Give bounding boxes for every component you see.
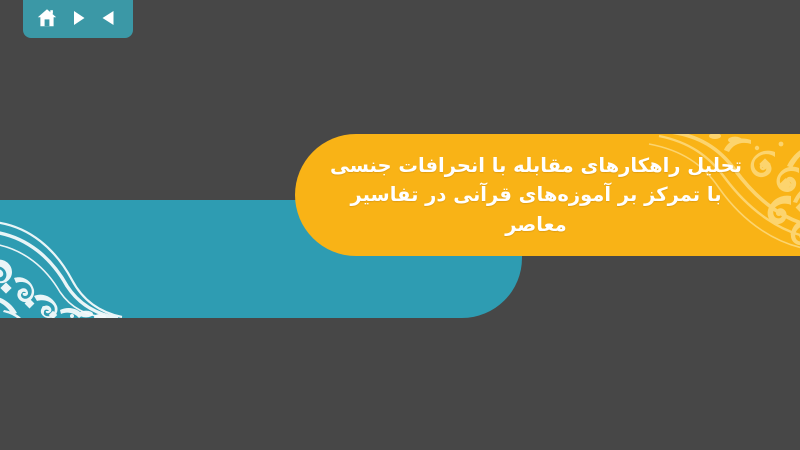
arabesque-ornament [0, 200, 164, 318]
title-line-3: معاصر [326, 210, 746, 240]
triangle-right-icon [68, 8, 88, 28]
title-line-2: با تمرکز بر آموزه‌های قرآنی در تفاسیر [326, 180, 746, 210]
previous-button[interactable] [96, 5, 122, 31]
triangle-left-icon [99, 8, 119, 28]
orange-title-band: تحلیل راهکارهای مقابله با انحرافات جنسی … [295, 134, 800, 256]
slide-title: تحلیل راهکارهای مقابله با انحرافات جنسی … [326, 151, 746, 240]
next-button[interactable] [65, 5, 91, 31]
home-button[interactable] [34, 5, 60, 31]
title-line-1: تحلیل راهکارهای مقابله با انحرافات جنسی [326, 151, 746, 181]
navigation-bar [23, 0, 133, 38]
presentation-slide: تحلیل راهکارهای مقابله با انحرافات جنسی … [0, 0, 800, 450]
home-icon [36, 7, 58, 29]
